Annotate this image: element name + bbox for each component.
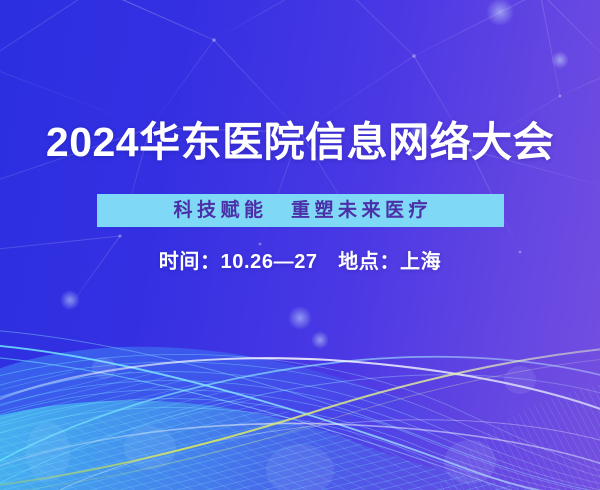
page-title: 2024华东医院信息网络大会 — [0, 117, 600, 167]
slogan-band: 科技赋能 重塑未来医疗 — [97, 194, 504, 227]
banner-content: 2024华东医院信息网络大会 科技赋能 重塑未来医疗 时间：10.26—27 地… — [0, 0, 600, 300]
slogan-text: 科技赋能 重塑未来医疗 — [169, 201, 432, 220]
conference-banner: 2024华东医院信息网络大会 科技赋能 重塑未来医疗 时间：10.26—27 地… — [0, 0, 600, 490]
event-meta: 时间：10.26—27 地点：上海 — [0, 249, 600, 275]
